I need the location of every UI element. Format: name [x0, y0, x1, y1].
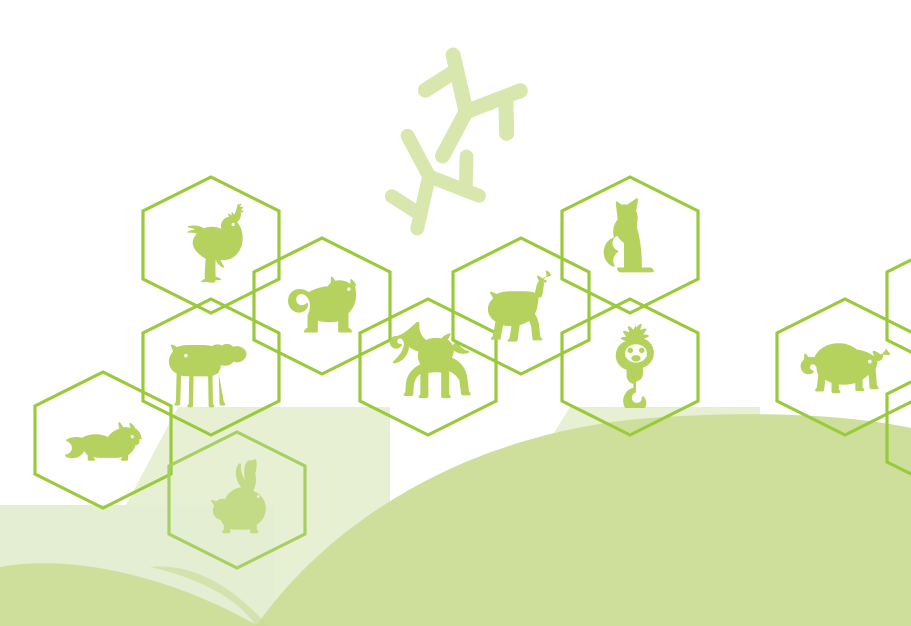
banner-root: [0, 0, 911, 626]
banner-canvas: [0, 0, 911, 626]
